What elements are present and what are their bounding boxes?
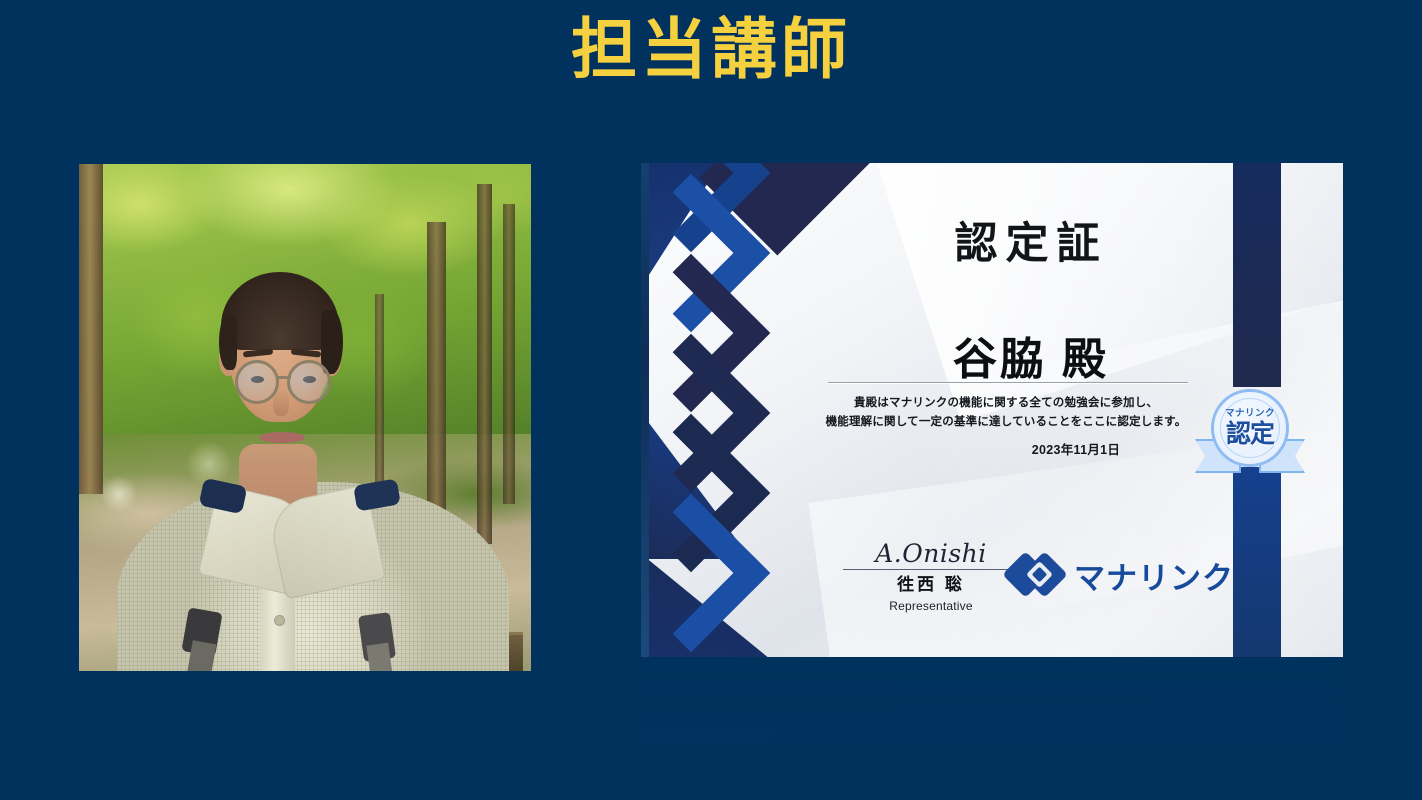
page-title: 担当講師: [0, 8, 1422, 91]
chevron-icon: [641, 517, 795, 637]
certificate-body-text: 貴殿はマナリンクの機能に関する全ての勉強会に参加し、 機能理解に関して一定の基準…: [801, 394, 1211, 432]
certificate-left-edge-stripe: [641, 163, 649, 657]
certificate-right-bar-top: [1233, 163, 1281, 387]
certificate-body-line-2: 機能理解に関して一定の基準に達していることをここに認定します。: [801, 413, 1211, 432]
seal-certification-label: 認定: [1226, 422, 1274, 447]
photo-person-hair: [321, 310, 343, 374]
photo-person-hair: [219, 314, 237, 370]
certificate-divider: [828, 382, 1188, 383]
certificate-heading: 認定証: [831, 209, 1231, 271]
signatory-role: Representative: [837, 599, 1025, 613]
photo-shirt-button: [275, 616, 284, 625]
certificate-issue-date: 2023年11月1日: [941, 439, 1211, 458]
signature-script: A.Onishi: [837, 541, 1025, 567]
manalink-logo: マナリンク: [1009, 551, 1234, 599]
certificate-body-line-1: 貴殿はマナリンクの機能に関する全ての勉強会に参加し、: [801, 394, 1211, 413]
reflection-fade-overlay: [641, 657, 1343, 741]
photo-eyeglasses-lens: [287, 360, 331, 404]
signature-divider: [843, 569, 1019, 570]
certificate-image: 認定証 谷脇 殿 貴殿はマナリンクの機能に関する全ての勉強会に参加し、 機能理解…: [641, 163, 1343, 657]
photo-person-mouth: [259, 432, 305, 443]
signature-block: A.Onishi 徃西 聡 Representative: [837, 541, 1025, 613]
certification-seal-badge: マナリンク 認定: [1197, 387, 1303, 483]
instructor-portrait-photo: [79, 164, 531, 671]
manalink-diamond-logo-icon: [1009, 551, 1063, 599]
manalink-logo-text: マナリンク: [1074, 553, 1234, 598]
seal-brand-label: マナリンク: [1225, 409, 1275, 419]
photo-eyeglasses-lens: [235, 360, 279, 404]
certificate-right-bar-bottom: [1233, 467, 1281, 657]
certificate-reflection: A.Onishi 徃西 聡 Representative マナリンク: [641, 657, 1343, 741]
signatory-name: 徃西 聡: [837, 575, 1025, 595]
seal-circle: マナリンク 認定: [1211, 389, 1289, 467]
certificate-recipient-name: 谷脇 殿: [831, 323, 1231, 387]
photo-eyeglasses-bridge: [277, 376, 291, 379]
